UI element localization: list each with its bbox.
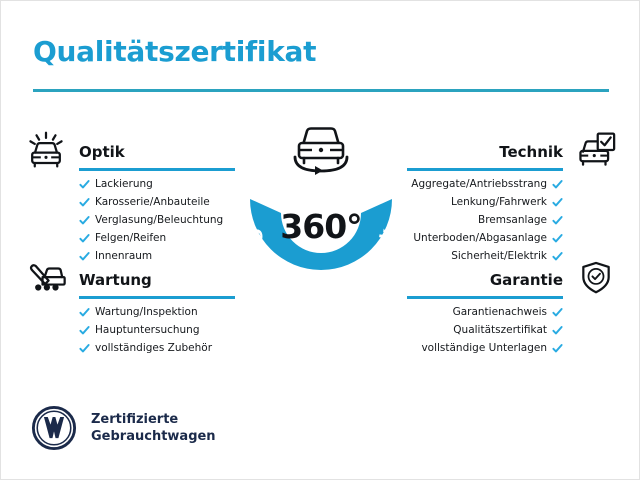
list-item-label: Verglasung/Beleuchtung (95, 215, 223, 226)
checklist-wartung: Wartung/Inspektion Hauptuntersuchung vol… (79, 303, 235, 357)
list-item: vollständige Unterlagen (407, 339, 563, 357)
check-icon (552, 325, 563, 336)
section-header-optik: Optik (23, 129, 235, 175)
section-header-garantie: Garantie (407, 257, 619, 303)
list-item: Lackierung (79, 175, 235, 193)
check-icon (552, 233, 563, 244)
list-item: Aggregate/Antriebsstrang (407, 175, 563, 193)
section-garantie: Garantie Garantienachweis Qualitätszerti… (407, 257, 619, 357)
check-icon (552, 307, 563, 318)
section-divider-wartung (79, 296, 235, 299)
list-item: Karosserie/Anbauteile (79, 193, 235, 211)
list-item: Hauptuntersuchung (79, 321, 235, 339)
car-shine-icon (23, 129, 69, 171)
section-header-wartung: Wartung (23, 257, 235, 303)
check-icon (79, 233, 90, 244)
list-item-label: Unterboden/Abgasanlage (413, 233, 547, 244)
list-item-label: Hauptuntersuchung (95, 325, 200, 336)
list-item: Felgen/Reifen (79, 229, 235, 247)
check-icon (79, 179, 90, 190)
dipstick-car-icon (23, 257, 69, 299)
checklist-optik: Lackierung Karosserie/Anbauteile Verglas… (79, 175, 235, 265)
360-check-badge: Gebrauchtwagen-Check 360° (229, 151, 413, 311)
check-icon (552, 179, 563, 190)
list-item: vollständiges Zubehör (79, 339, 235, 357)
check-icon (552, 343, 563, 354)
car-checkbox-icon (573, 129, 619, 171)
section-title-garantie: Garantie (490, 271, 563, 289)
list-item-label: Felgen/Reifen (95, 233, 166, 244)
list-item-label: vollständiges Zubehör (95, 343, 212, 354)
shield-check-icon (573, 257, 619, 299)
check-icon (79, 307, 90, 318)
check-icon (552, 197, 563, 208)
list-item-label: Bremsanlage (478, 215, 547, 226)
section-divider-technik (407, 168, 563, 171)
check-icon (79, 325, 90, 336)
vw-brand-line1: Zertifizierte (91, 411, 216, 428)
section-technik: Technik Aggregate/Antriebsstrang Lenkung… (407, 129, 619, 265)
checklist-technik: Aggregate/Antriebsstrang Lenkung/Fahrwer… (407, 175, 563, 265)
list-item-label: Lackierung (95, 179, 153, 190)
quality-certificate-page: Qualitätszertifikat (0, 0, 640, 480)
vw-brand-text: Zertifizierte Gebrauchtwagen (91, 411, 216, 445)
section-title-technik: Technik (499, 143, 563, 161)
car-rotation-icon (285, 119, 357, 177)
check-icon (552, 215, 563, 226)
section-divider-garantie (407, 296, 563, 299)
section-wartung: Wartung Wartung/Inspektion Hauptuntersuc… (23, 257, 235, 357)
badge-degrees: 360° (229, 207, 413, 246)
list-item-label: Qualitätszertifikat (453, 325, 547, 336)
vw-logo (31, 405, 77, 451)
list-item-label: Garantienachweis (453, 307, 547, 318)
vw-brand-block: Zertifizierte Gebrauchtwagen (31, 405, 216, 451)
check-icon (79, 343, 90, 354)
check-icon (79, 197, 90, 208)
vw-brand-line2: Gebrauchtwagen (91, 428, 216, 445)
checklist-garantie: Garantienachweis Qualitätszertifikat vol… (407, 303, 563, 357)
title-divider (33, 89, 609, 92)
list-item-label: vollständige Unterlagen (421, 343, 547, 354)
list-item: Bremsanlage (407, 211, 563, 229)
list-item: Garantienachweis (407, 303, 563, 321)
section-optik: Optik Lackierung Karosserie/Anbauteile V… (23, 129, 235, 265)
list-item: Verglasung/Beleuchtung (79, 211, 235, 229)
section-title-optik: Optik (79, 143, 125, 161)
list-item: Lenkung/Fahrwerk (407, 193, 563, 211)
section-header-technik: Technik (407, 129, 619, 175)
list-item-label: Wartung/Inspektion (95, 307, 198, 318)
page-title: Qualitätszertifikat (33, 35, 316, 68)
check-icon (79, 215, 90, 226)
section-title-wartung: Wartung (79, 271, 152, 289)
list-item: Qualitätszertifikat (407, 321, 563, 339)
list-item-label: Lenkung/Fahrwerk (451, 197, 547, 208)
list-item: Unterboden/Abgasanlage (407, 229, 563, 247)
list-item-label: Aggregate/Antriebsstrang (411, 179, 547, 190)
list-item: Wartung/Inspektion (79, 303, 235, 321)
section-divider-optik (79, 168, 235, 171)
list-item-label: Karosserie/Anbauteile (95, 197, 210, 208)
